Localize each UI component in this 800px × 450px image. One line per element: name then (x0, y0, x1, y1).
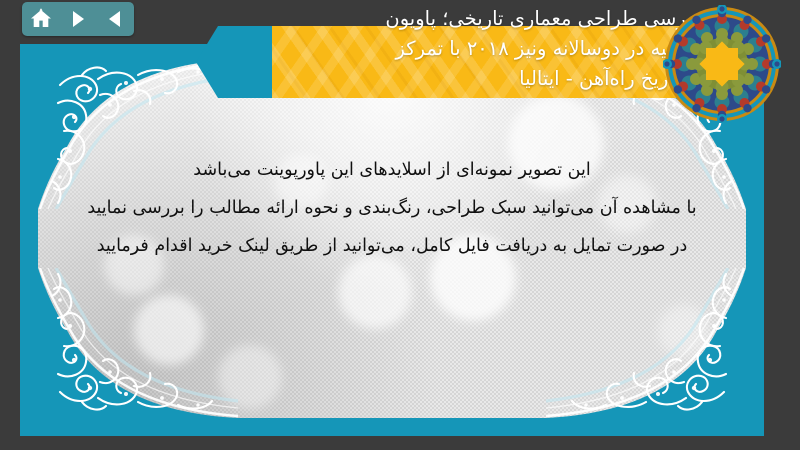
arabesque-corner-bottom-left (38, 268, 238, 418)
slide-preview-stage: بررسی طراحی معماری تاریخی؛ پاویون روسیه … (0, 0, 800, 450)
arabesque-corner-bottom-right (546, 268, 746, 418)
body-line-3: در صورت تمایل به دریافت فایل کامل، می‌تو… (64, 227, 720, 265)
bokeh-circle (338, 255, 412, 329)
triangle-right-icon (67, 8, 89, 30)
eight-point-star-icon (699, 41, 744, 86)
home-button[interactable] (26, 4, 56, 34)
slide-body-text: این تصویر نمونه‌ای از اسلایدهای این پاور… (38, 151, 746, 265)
presentation-title: بررسی طراحی معماری تاریخی؛ پاویون روسیه … (268, 4, 704, 114)
next-slide-button[interactable] (63, 4, 93, 34)
previous-slide-button[interactable] (100, 4, 130, 34)
persian-medallion-ornament (663, 5, 781, 123)
banner-notch (196, 26, 272, 98)
home-icon (29, 7, 53, 31)
body-line-1: این تصویر نمونه‌ای از اسلایدهای این پاور… (64, 151, 720, 189)
navigation-toolbar (22, 2, 134, 36)
body-line-2: با مشاهده آن می‌توانید سبک طراحی، رنگ‌بن… (64, 189, 720, 227)
triangle-left-icon (104, 8, 126, 30)
